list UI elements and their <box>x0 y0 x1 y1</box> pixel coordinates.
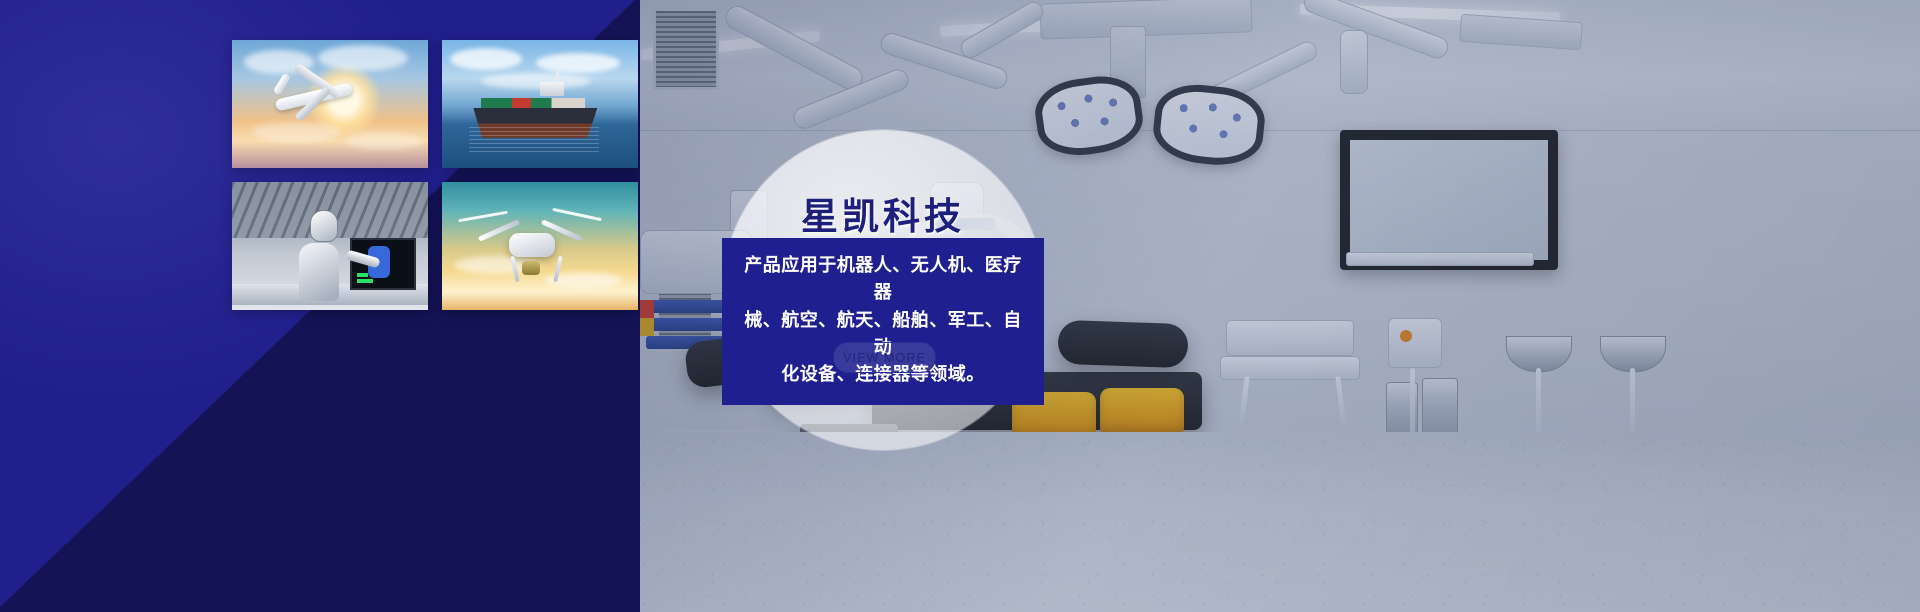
ship-bridge <box>540 82 564 96</box>
cloud <box>536 53 620 73</box>
cloud <box>481 73 591 89</box>
industry-image-grid <box>232 40 640 312</box>
description-band: 产品应用于机器人、无人机、医疗器 械、航空、航天、船舶、军工、自动 化设备、连接… <box>722 238 1044 405</box>
drone-photo <box>442 182 638 310</box>
airplane-photo <box>232 40 428 168</box>
cloud <box>318 45 408 71</box>
airplane-tail <box>273 72 291 95</box>
cargo-ship-photo <box>442 40 638 168</box>
robot-torso <box>299 243 339 301</box>
description-line-1: 产品应用于机器人、无人机、医疗器 <box>736 252 1030 307</box>
water-reflection <box>469 127 599 153</box>
view-more-button[interactable]: VIEW MORE <box>833 342 936 373</box>
hero-banner: 星凯科技 产品应用于机器人、无人机、医疗器 械、航空、航天、船舶、军工、自动 化… <box>0 0 1920 612</box>
drone-propeller <box>458 211 508 223</box>
gallery-item-drone[interactable] <box>442 182 638 310</box>
gallery-item-cargo-ship[interactable] <box>442 40 638 168</box>
drone-propeller <box>552 208 602 221</box>
gallery-item-robot[interactable] <box>232 182 428 310</box>
left-blue-panel <box>0 0 640 612</box>
gallery-item-airplane[interactable] <box>232 40 428 168</box>
page-title: 星凯科技 <box>640 186 1126 240</box>
industrial-robot-photo <box>232 182 428 310</box>
robot-head <box>310 210 338 242</box>
control-screen <box>350 238 416 290</box>
cloud <box>346 132 422 150</box>
cloud <box>450 48 522 70</box>
cloud <box>252 122 340 142</box>
drone-camera-gimbal <box>522 261 540 275</box>
drone-body <box>509 233 555 257</box>
